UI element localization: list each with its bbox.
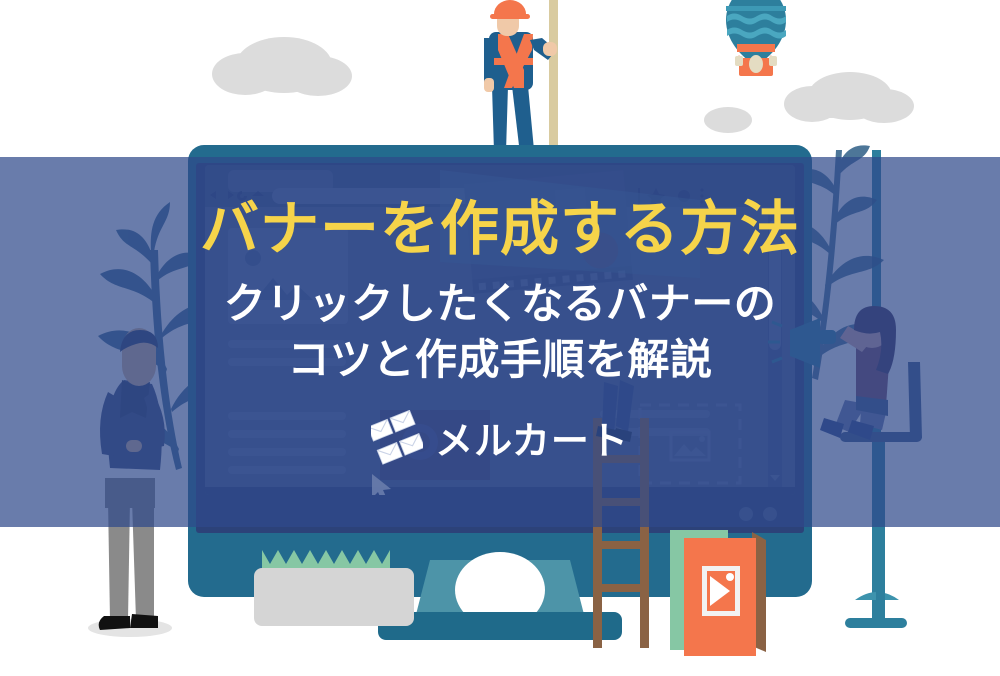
- brand-name: メルカート: [435, 410, 629, 465]
- banner-canvas: バナーを作成する方法 クリックしたくなるバナーの コツと作成手順を解説: [0, 0, 1000, 676]
- cloud-small-top: [704, 107, 752, 133]
- subtitle-line-2: コツと作成手順を解説: [224, 332, 777, 388]
- cloud-left: [212, 37, 352, 96]
- hot-air-balloon: [726, 0, 786, 76]
- subtitle-line-1: クリックしたくなるバナーの: [224, 276, 777, 332]
- books-stack: [670, 530, 766, 656]
- subtitle: クリックしたくなるバナーの コツと作成手順を解説: [224, 262, 777, 388]
- banner-text-block: バナーを作成する方法 クリックしたくなるバナーの コツと作成手順を解説: [0, 157, 1000, 527]
- mercart-diamond-logo-icon: [371, 410, 423, 466]
- cloud-right: [784, 72, 914, 123]
- brand-logo: メルカート: [371, 410, 629, 466]
- page-title: バナーを作成する方法: [200, 157, 800, 262]
